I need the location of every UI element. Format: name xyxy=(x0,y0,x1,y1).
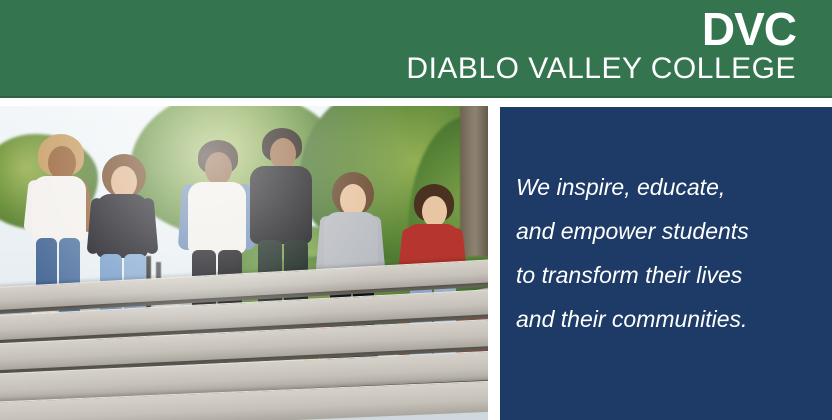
dvc-logo: DVC DIABLO VALLEY COLLEGE xyxy=(406,6,796,84)
tagline-line-3: to transform their lives xyxy=(516,253,816,297)
torso xyxy=(32,176,86,242)
head xyxy=(422,196,447,227)
dvc-logo-name: DIABLO VALLEY COLLEGE xyxy=(406,54,796,84)
tagline-line-1: We inspire, educate, xyxy=(516,165,816,209)
photo-illustration xyxy=(0,106,488,420)
torso xyxy=(250,166,312,244)
dvc-logo-mark: DVC xyxy=(406,6,796,52)
campus-photo xyxy=(0,106,488,420)
dvc-banner: DVC DIABLO VALLEY COLLEGE xyxy=(0,0,832,420)
stairs xyxy=(0,276,488,420)
torso xyxy=(96,194,148,258)
tagline-line-4: and their communities. xyxy=(516,297,816,341)
head xyxy=(205,152,232,185)
tagline-panel: We inspire, educate, and empower student… xyxy=(500,107,832,420)
mission-statement: We inspire, educate, and empower student… xyxy=(516,165,816,341)
header-bar: DVC DIABLO VALLEY COLLEGE xyxy=(0,0,832,98)
head xyxy=(48,146,76,180)
tagline-line-2: and empower students xyxy=(516,209,816,253)
torso xyxy=(188,182,246,254)
